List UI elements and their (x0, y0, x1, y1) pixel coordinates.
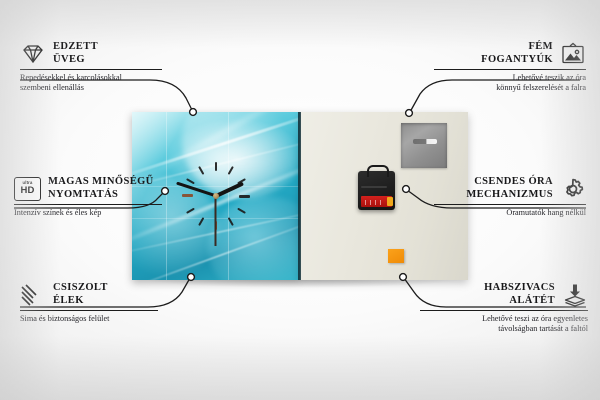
feature-subtitle: Intenzív színek és éles kép (14, 208, 162, 218)
feature-polished-edges: CSISZOLT ÉLEK Sima és biztonságos felüle… (20, 282, 158, 324)
feature-header: CSISZOLT ÉLEK (20, 282, 158, 307)
picture-frame-hanger-icon (560, 42, 586, 66)
glass-edge-seam (298, 112, 301, 280)
feature-hd-print: ultra HD MAGAS MINŐSÉGŰ NYOMTATÁS Intenz… (14, 176, 162, 218)
print-band (166, 112, 167, 280)
gear-icon (560, 177, 586, 201)
feature-header: ultra HD MAGAS MINŐSÉGŰ NYOMTATÁS (14, 176, 162, 201)
clock-center-cap (213, 193, 219, 199)
feature-subtitle: szembeni ellenállás (20, 83, 162, 93)
feature-divider (434, 69, 586, 70)
feature-subtitle: Lehetővé teszik az óra (434, 73, 586, 83)
feature-subtitle: Lehetővé teszi az óra egyenletes (420, 314, 588, 324)
product-image (132, 112, 468, 280)
battery (361, 196, 392, 207)
foam-spacer-icon (562, 283, 588, 307)
feature-subtitle: Repedésekkel és karcolásokkal (20, 73, 162, 83)
feature-subtitle: Óramutatók hang nélkül (434, 208, 586, 218)
diamond-icon (20, 42, 46, 66)
feature-metal-handles: FÉM FOGANTYÚK Lehetővé teszik az óra kön… (434, 41, 586, 93)
feature-divider (20, 69, 162, 70)
infographic-canvas: EDZETT ÜVEG Repedésekkel és karcolásokka… (0, 0, 600, 400)
ultra-hd-icon: ultra HD (14, 177, 41, 201)
feature-subtitle: könnyű felszerelését a falra (434, 83, 586, 93)
feature-title: CSISZOLT ÉLEK (53, 282, 108, 307)
mechanism-hanger-loop (367, 165, 389, 177)
feature-title: CSENDES ÓRA MECHANIZMUS (466, 176, 553, 201)
feature-title: MAGAS MINŐSÉGŰ NYOMTATÁS (48, 176, 154, 201)
feature-foam-pad: HABSZIVACS ALÁTÉT Lehetővé teszi az óra … (420, 282, 588, 334)
feature-title: EDZETT ÜVEG (53, 41, 98, 66)
quartz-clock-mechanism (358, 171, 395, 210)
feature-quiet-mechanism: CSENDES ÓRA MECHANIZMUS Óramutatók hang … (434, 176, 586, 218)
feature-subtitle: távolságban tartását a faltól (420, 324, 588, 334)
feature-divider (420, 310, 588, 311)
polished-edges-icon (20, 283, 46, 307)
feature-header: EDZETT ÜVEG (20, 41, 162, 66)
feature-tempered-glass: EDZETT ÜVEG Repedésekkel és karcolásokka… (20, 41, 162, 93)
feature-header: HABSZIVACS ALÁTÉT (420, 282, 588, 307)
metal-hanger-plate (401, 123, 447, 168)
feature-divider (20, 310, 158, 311)
feature-title: FÉM FOGANTYÚK (481, 41, 553, 66)
hanger-slot (413, 139, 437, 144)
foam-pad (388, 249, 404, 263)
mechanism-seam (361, 186, 387, 188)
feature-title: HABSZIVACS ALÁTÉT (484, 282, 555, 307)
feature-header: CSENDES ÓRA MECHANIZMUS (434, 176, 586, 201)
feature-divider (14, 204, 162, 205)
feature-header: FÉM FOGANTYÚK (434, 41, 586, 66)
feature-divider (434, 204, 586, 205)
feature-subtitle: Sima és biztonságos felület (20, 314, 158, 324)
